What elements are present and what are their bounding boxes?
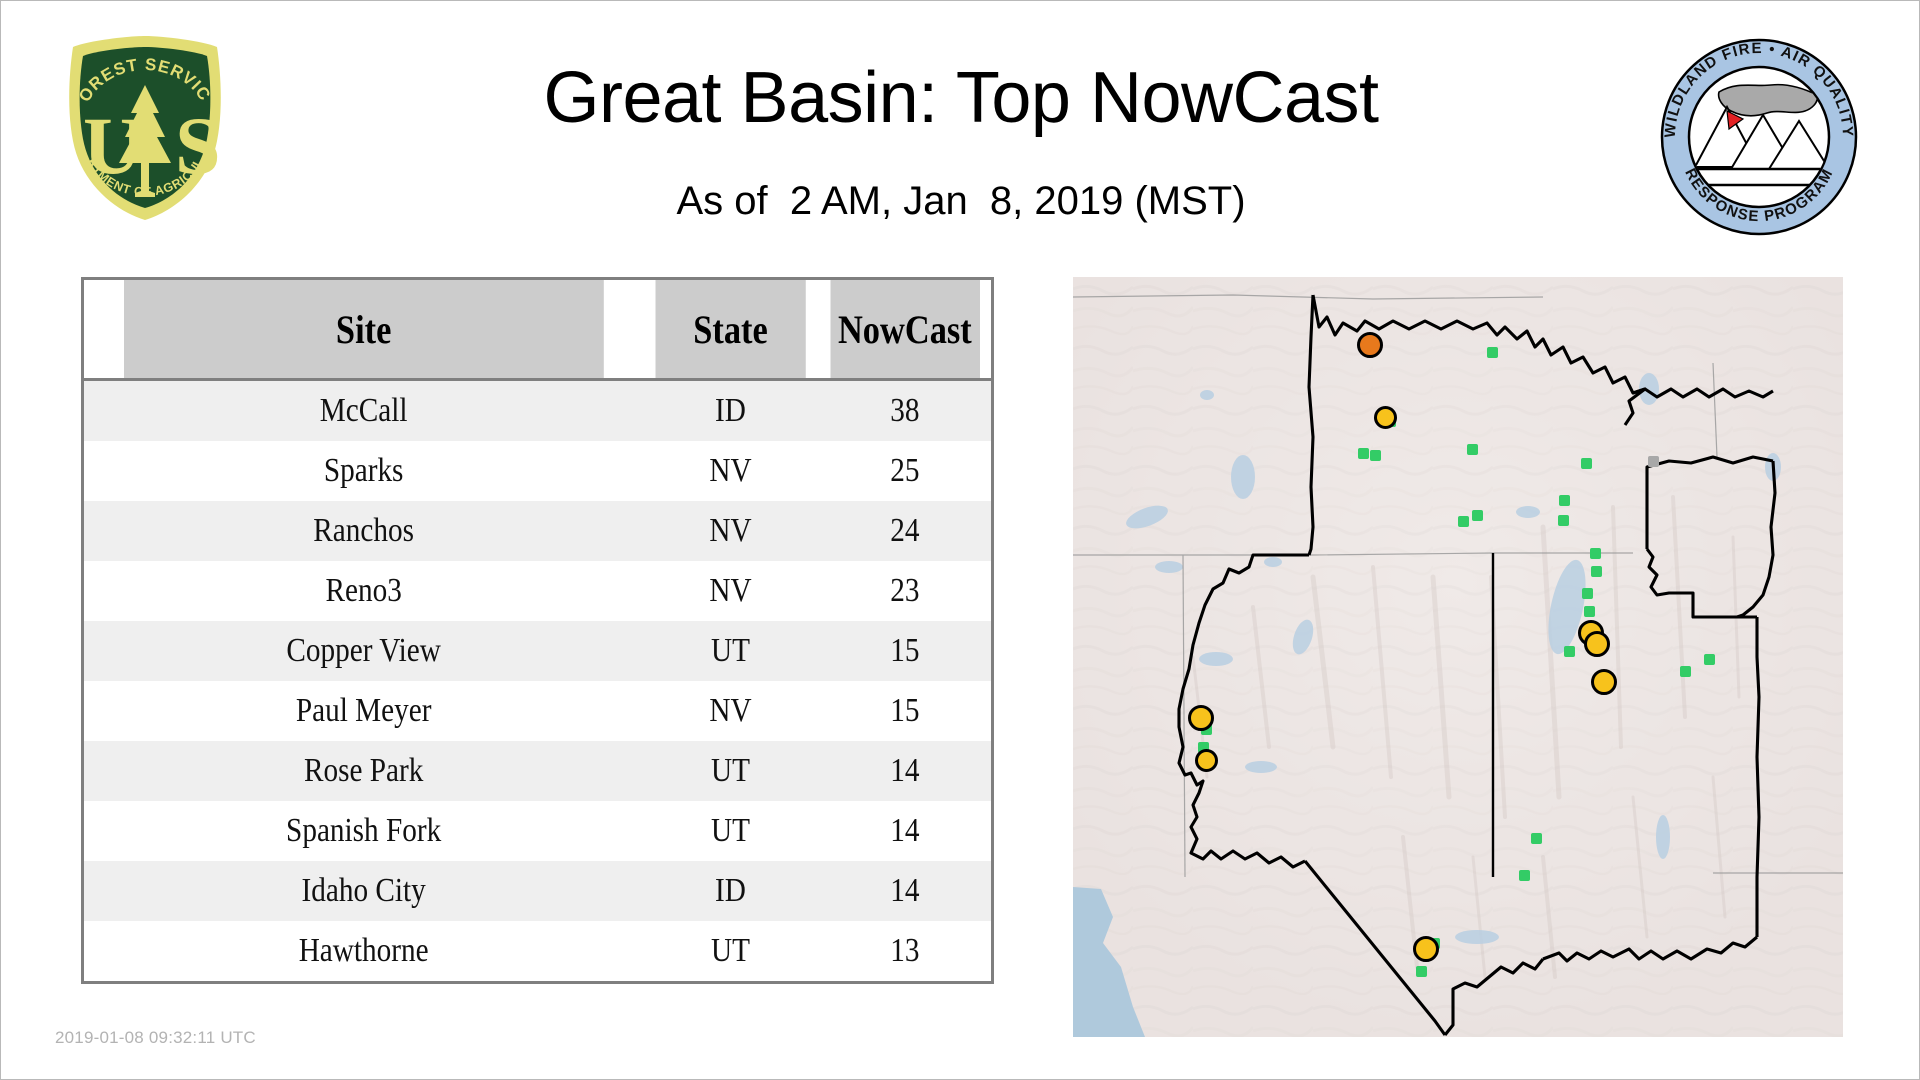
cell-state: UT xyxy=(655,921,806,983)
cell-site: Ranchos xyxy=(122,501,604,561)
cell-state: NV xyxy=(655,681,806,741)
map-basemap xyxy=(1073,277,1843,1037)
nowcast-table-container: Site State NowCast McCall ID 38 Sparks N… xyxy=(81,277,991,984)
wildland-fire-air-quality-logo: WILDLAND FIRE • AIR QUALITY RESPONSE PRO… xyxy=(1659,37,1859,237)
table-row[interactable]: Ranchos NV 24 xyxy=(83,501,993,561)
aqi-marker-hawthorne[interactable] xyxy=(1413,936,1439,962)
table-row[interactable]: Copper View UT 15 xyxy=(83,621,993,681)
cell-state: UT xyxy=(655,621,806,681)
aqi-marker-sparks[interactable] xyxy=(1188,705,1214,731)
cell-site: Paul Meyer xyxy=(122,681,604,741)
aqi-marker-spanish-fork[interactable] xyxy=(1591,669,1617,695)
cell-nowcast: 13 xyxy=(830,921,981,983)
nowcast-table: Site State NowCast McCall ID 38 Sparks N… xyxy=(81,277,994,984)
good-marker[interactable] xyxy=(1519,870,1530,881)
good-marker[interactable] xyxy=(1370,450,1381,461)
good-marker[interactable] xyxy=(1584,606,1595,617)
table-header-row: Site State NowCast xyxy=(83,279,993,380)
table-row[interactable]: Rose Park UT 14 xyxy=(83,741,993,801)
page-title: Great Basin: Top NowCast xyxy=(1,57,1920,139)
cell-state: NV xyxy=(655,561,806,621)
good-marker[interactable] xyxy=(1680,666,1691,677)
cell-nowcast: 15 xyxy=(830,621,981,681)
aqi-marker-idaho-city[interactable] xyxy=(1374,406,1397,429)
good-marker[interactable] xyxy=(1531,833,1542,844)
table-row[interactable]: Idaho City ID 14 xyxy=(83,861,993,921)
good-marker[interactable] xyxy=(1590,548,1601,559)
column-header-site[interactable]: Site xyxy=(122,279,604,380)
good-marker[interactable] xyxy=(1559,495,1570,506)
slide-page: FOREST SERVICE U S DEPARTMENT OF AGRICUL… xyxy=(0,0,1920,1080)
table-row[interactable]: Paul Meyer NV 15 xyxy=(83,681,993,741)
cell-nowcast: 24 xyxy=(830,501,981,561)
cell-nowcast: 23 xyxy=(830,561,981,621)
good-marker[interactable] xyxy=(1358,448,1369,459)
page-subtitle: As of 2 AM, Jan 8, 2019 (MST) xyxy=(1,179,1920,224)
good-marker[interactable] xyxy=(1487,347,1498,358)
cell-nowcast: 14 xyxy=(830,741,981,801)
smoke-plume-icon xyxy=(1719,85,1818,116)
aqi-marker-rose-park[interactable] xyxy=(1584,631,1610,657)
cell-nowcast: 14 xyxy=(830,801,981,861)
footer-timestamp: 2019-01-08 09:32:11 UTC xyxy=(55,1028,256,1048)
column-header-state[interactable]: State xyxy=(655,279,806,380)
cell-state: UT xyxy=(655,801,806,861)
table-row[interactable]: Reno3 NV 23 xyxy=(83,561,993,621)
good-marker[interactable] xyxy=(1591,566,1602,577)
table-row[interactable]: Hawthorne UT 13 xyxy=(83,921,993,983)
good-marker[interactable] xyxy=(1581,458,1592,469)
cell-state: NV xyxy=(655,441,806,501)
cell-site: McCall xyxy=(122,380,604,442)
cell-site: Reno3 xyxy=(122,561,604,621)
cell-state: NV xyxy=(655,501,806,561)
table-row[interactable]: Sparks NV 25 xyxy=(83,441,993,501)
cell-nowcast: 15 xyxy=(830,681,981,741)
aqi-marker-ranchos[interactable] xyxy=(1195,749,1218,772)
column-header-nowcast[interactable]: NowCast xyxy=(830,279,981,380)
aqi-marker-mccall[interactable] xyxy=(1357,332,1383,358)
cell-site: Rose Park xyxy=(122,741,604,801)
cell-nowcast: 38 xyxy=(830,380,981,442)
cell-nowcast: 14 xyxy=(830,861,981,921)
cell-site: Copper View xyxy=(122,621,604,681)
table-row[interactable]: McCall ID 38 xyxy=(83,380,993,442)
good-marker[interactable] xyxy=(1467,444,1478,455)
good-marker[interactable] xyxy=(1704,654,1715,665)
great-basin-aqi-monitor-map[interactable] xyxy=(1073,277,1843,1037)
table-row[interactable]: Spanish Fork UT 14 xyxy=(83,801,993,861)
cell-state: ID xyxy=(655,861,806,921)
cell-site: Idaho City xyxy=(122,861,604,921)
good-marker[interactable] xyxy=(1558,515,1569,526)
cell-site: Sparks xyxy=(122,441,604,501)
cell-site: Hawthorne xyxy=(122,921,604,983)
good-marker[interactable] xyxy=(1472,510,1483,521)
good-marker[interactable] xyxy=(1582,588,1593,599)
nowcast-table-body: McCall ID 38 Sparks NV 25 Ranchos NV 24 … xyxy=(83,380,993,983)
good-marker-gray[interactable] xyxy=(1648,456,1659,467)
cell-site: Spanish Fork xyxy=(122,801,604,861)
good-marker[interactable] xyxy=(1458,516,1469,527)
cell-nowcast: 25 xyxy=(830,441,981,501)
cell-state: ID xyxy=(655,380,806,442)
cell-state: UT xyxy=(655,741,806,801)
good-marker[interactable] xyxy=(1416,966,1427,977)
good-marker[interactable] xyxy=(1564,646,1575,657)
